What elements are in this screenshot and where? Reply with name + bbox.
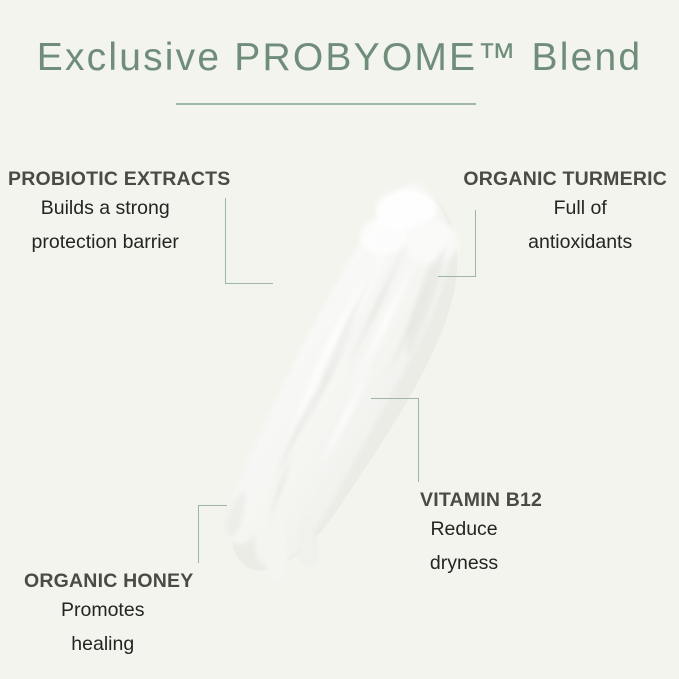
callout-description-line1: Promotes: [24, 593, 193, 627]
connector-honey-horizontal: [198, 505, 227, 506]
callout-vitamin-b12: VITAMIN B12 Reduce dryness: [420, 489, 542, 580]
connector-vitamin-vertical: [418, 398, 419, 482]
callout-description-line2: healing: [24, 627, 193, 661]
callout-heading: PROBIOTIC EXTRACTS: [8, 168, 230, 191]
callout-description-line2: antioxidants: [463, 225, 667, 259]
connector-probiotic-horizontal: [225, 283, 273, 284]
callout-description-line1: Builds a strong: [8, 191, 230, 225]
product-ingredient-infographic: Exclusive PROBYOME™ Blend: [0, 0, 679, 679]
title-divider: [176, 103, 476, 105]
callout-heading: ORGANIC TURMERIC: [463, 168, 667, 191]
callout-probiotic-extracts: PROBIOTIC EXTRACTS Builds a strong prote…: [8, 168, 230, 259]
connector-vitamin-horizontal: [371, 398, 419, 399]
callout-description-line2: protection barrier: [8, 225, 230, 259]
connector-turmeric-horizontal: [438, 276, 476, 277]
callout-description-line2: dryness: [420, 546, 542, 580]
page-title: Exclusive PROBYOME™ Blend: [0, 36, 679, 80]
connector-honey-vertical: [198, 505, 199, 563]
callout-description-line1: Reduce: [420, 512, 542, 546]
callout-heading: ORGANIC HONEY: [24, 570, 193, 593]
callout-organic-honey: ORGANIC HONEY Promotes healing: [24, 570, 193, 661]
callout-organic-turmeric: ORGANIC TURMERIC Full of antioxidants: [463, 168, 667, 259]
callout-description-line1: Full of: [463, 191, 667, 225]
callout-heading: VITAMIN B12: [420, 489, 542, 512]
